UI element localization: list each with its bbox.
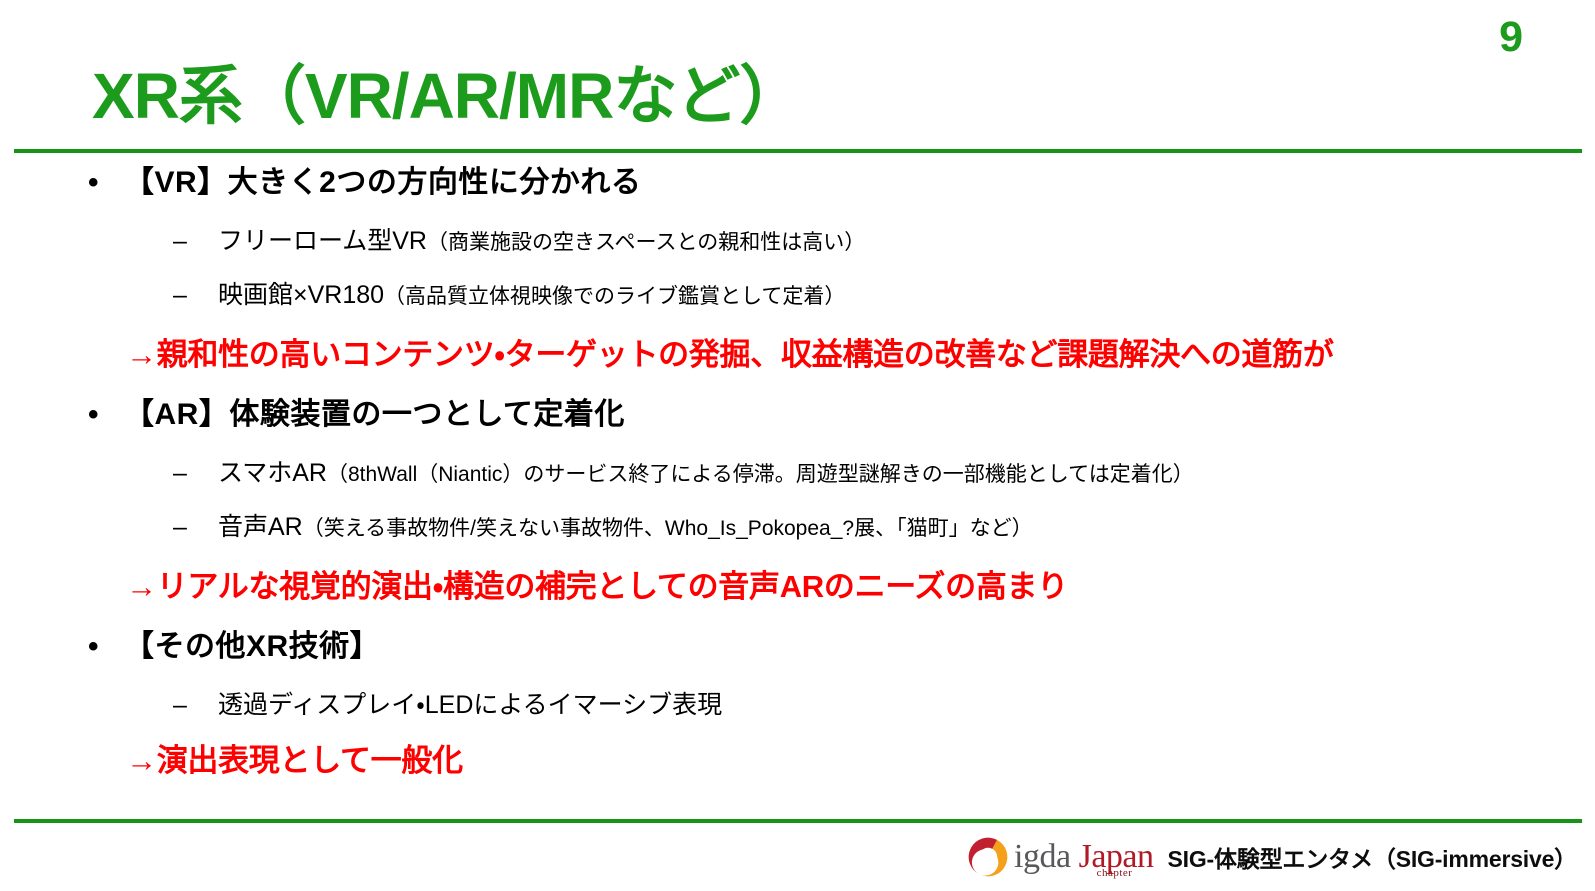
spacer xyxy=(0,670,1595,684)
chapter-word: chapter xyxy=(1097,868,1133,879)
sub-item-label: スマホAR（8thWall（Niantic）のサービス終了による停滞。周遊型謎解… xyxy=(218,452,1194,496)
dash-icon: – xyxy=(173,452,218,494)
bullet-vr-label: 【VR】大きく2つの方向性に分かれる xyxy=(124,160,641,206)
bullet-other-xr-label: 【その他XR技術】 xyxy=(124,624,380,670)
spacer xyxy=(0,318,1595,330)
sub-item-note: （高品質立体視映像でのライブ鑑賞として定着） xyxy=(384,285,845,308)
slide-body: • 【VR】大きく2つの方向性に分かれる – フリーローム型VR（商業施設の空き… xyxy=(0,160,1595,786)
sub-item-note: （商業施設の空きスペースとの親和性は高い） xyxy=(427,231,865,254)
sub-item-label: フリーローム型VR（商業施設の空きスペースとの親和性は高い） xyxy=(218,220,865,264)
bullet-dot-icon: • xyxy=(88,160,124,206)
spacer xyxy=(0,550,1595,562)
sub-item-smartphone-ar: – スマホAR（8thWall（Niantic）のサービス終了による停滞。周遊型… xyxy=(0,452,1595,496)
sub-item-main: フリーローム型VR xyxy=(218,227,427,255)
dash-icon: – xyxy=(173,684,218,726)
sub-item-note: （8thWall（Niantic）のサービス終了による停滞。周遊型謎解きの一部機… xyxy=(327,463,1194,486)
slide-canvas: 9 XR系（VR/AR/MRなど） • 【VR】大きく2つの方向性に分かれる –… xyxy=(0,0,1595,891)
sub-item-main: 透過ディスプレイ・LEDによるイマーシブ表現 xyxy=(218,691,722,719)
spacer xyxy=(0,728,1595,736)
bullet-dot-icon: • xyxy=(88,392,124,438)
igda-word: igda xyxy=(1014,840,1071,874)
sub-item-main: 映画館×VR180 xyxy=(218,281,384,309)
page-title: XR系（VR/AR/MRなど） xyxy=(92,60,802,134)
sub-item-main: 音声AR xyxy=(218,513,303,541)
sub-item-label: 音声AR（笑える事故物件/笑えない事故物件、Who_Is_Pokopea_?展、… xyxy=(218,506,1033,550)
page-number: 9 xyxy=(1499,16,1523,59)
spacer xyxy=(0,496,1595,506)
sub-item-main: スマホAR xyxy=(218,459,327,487)
bullet-ar-label: 【AR】体験装置の一つとして定着化 xyxy=(124,392,625,438)
slide-footer: igda Japan chapter SIG-体験型エンタメ（SIG-immer… xyxy=(0,823,1595,891)
sub-item-label: 透過ディスプレイ・LEDによるイマーシブ表現 xyxy=(218,684,722,728)
bullet-ar: • 【AR】体験装置の一つとして定着化 xyxy=(0,392,1595,438)
conclusion-vr: →親和性の高いコンテンツ・ターゲットの発掘、収益構造の改善など課題解決への道筋が xyxy=(0,330,1595,380)
dash-icon: – xyxy=(173,274,218,316)
conclusion-ar: →リアルな視覚的演出・構造の補完としての音声ARのニーズの高まり xyxy=(0,562,1595,612)
sub-item-audio-ar: – 音声AR（笑える事故物件/笑えない事故物件、Who_Is_Pokopea_?… xyxy=(0,506,1595,550)
dash-icon: – xyxy=(173,506,218,548)
conclusion-other-xr: →演出表現として一般化 xyxy=(0,736,1595,786)
title-divider xyxy=(14,149,1582,153)
sub-item-cinema-vr180: – 映画館×VR180（高品質立体視映像でのライブ鑑賞として定着） xyxy=(0,274,1595,318)
spacer xyxy=(0,206,1595,220)
igda-japan-logo: igda Japan chapter xyxy=(966,835,1153,879)
spacer xyxy=(0,612,1595,624)
sub-item-note: （笑える事故物件/笑えない事故物件、Who_Is_Pokopea_?展、「猫町」… xyxy=(303,517,1033,540)
bullet-vr: • 【VR】大きく2つの方向性に分かれる xyxy=(0,160,1595,206)
japan-wordmark: Japan chapter xyxy=(1079,840,1154,874)
sub-item-freeroam-vr: – フリーローム型VR（商業施設の空きスペースとの親和性は高い） xyxy=(0,220,1595,264)
igda-wordmark: igda Japan chapter xyxy=(1014,840,1153,874)
spacer xyxy=(0,264,1595,274)
dash-icon: – xyxy=(173,220,218,262)
spacer xyxy=(0,438,1595,452)
sub-item-transparent-display: – 透過ディスプレイ・LEDによるイマーシブ表現 xyxy=(0,684,1595,728)
bullet-dot-icon: • xyxy=(88,624,124,670)
spacer xyxy=(0,380,1595,392)
sub-item-label: 映画館×VR180（高品質立体視映像でのライブ鑑賞として定着） xyxy=(218,274,845,318)
bullet-other-xr: • 【その他XR技術】 xyxy=(0,624,1595,670)
igda-logo-icon xyxy=(966,835,1010,879)
sig-label: SIG-体験型エンタメ（SIG-immersive） xyxy=(1168,840,1577,874)
